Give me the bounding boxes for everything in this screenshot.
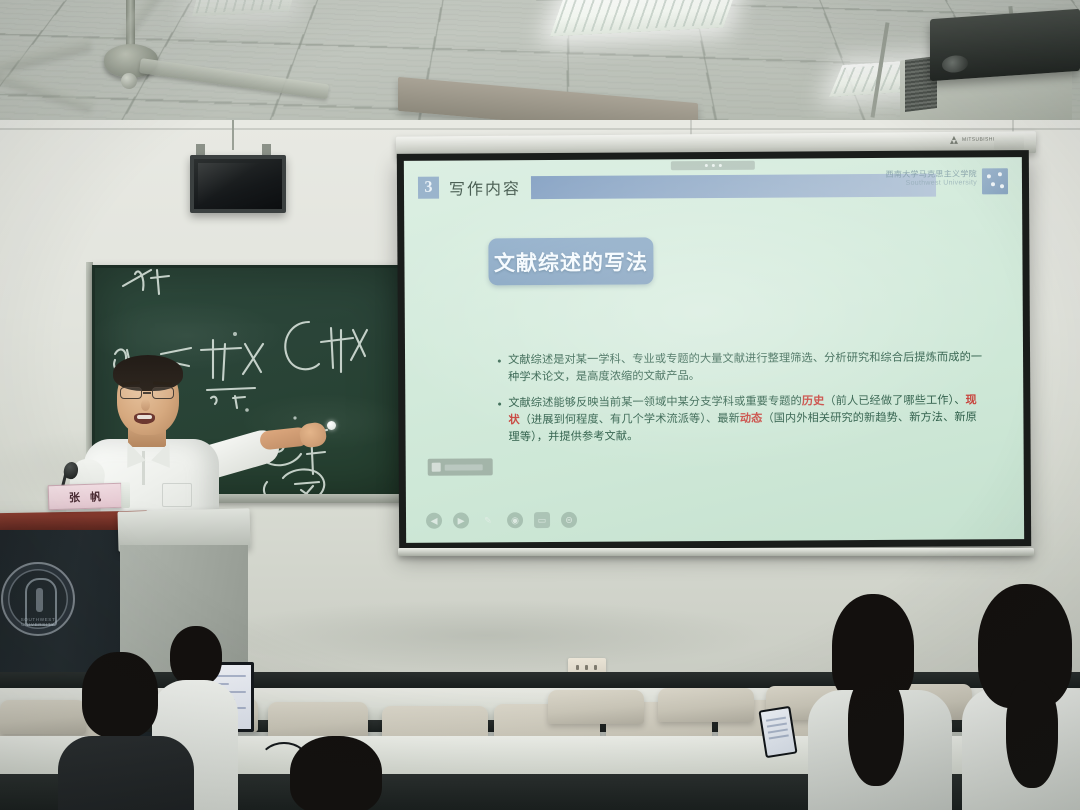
water-bottle — [121, 482, 130, 508]
bullet-marker: • — [497, 395, 508, 446]
wall-mounted-monitor — [190, 155, 286, 213]
laser-pointer-icon — [327, 421, 336, 430]
slide-status-chip[interactable] — [428, 458, 493, 475]
slide-header-bar — [531, 173, 936, 198]
nameplate-given-name: 帆 — [90, 488, 102, 504]
bullet-text: 文献综述是对某一学科、专业或专题的大量文献进行整理筛选、分析研究和综合后提炼而成… — [508, 349, 985, 386]
chip-icon — [432, 463, 441, 472]
university-brand: 西南大学马克思主义学院 Southwest University — [886, 168, 1008, 195]
ceiling-projector — [930, 9, 1080, 81]
slide-section-title: 写作内容 — [449, 175, 521, 199]
bullet-item: • 文献综述是对某一学科、专业或专题的大量文献进行整理筛选、分析研究和综合后提炼… — [497, 349, 985, 386]
highlight-text: 动态 — [740, 413, 763, 425]
prev-slide-icon[interactable]: ◀ — [426, 513, 442, 529]
student — [264, 736, 404, 810]
university-emblem-icon: SOUTHWEST UNIVERSITY — [1, 562, 75, 636]
presentation-toolbar[interactable]: ◀ ▶ ✎ ◉ ▭ ⊜ — [426, 512, 577, 529]
next-slide-icon[interactable]: ▶ — [453, 512, 469, 528]
university-logo-icon — [982, 168, 1008, 194]
shirt-pocket — [162, 483, 192, 507]
brand-name-cn: 西南大学马克思主义学院 — [886, 169, 977, 179]
projected-slide[interactable]: 3 写作内容 西南大学马克思主义学院 Southwest University … — [404, 157, 1024, 543]
seat-back — [658, 688, 754, 722]
projection-screen: 3 写作内容 西南大学马克思主义学院 Southwest University … — [397, 150, 1031, 550]
slide-section-number: 3 — [418, 177, 439, 199]
nose — [141, 399, 150, 411]
webcam-overlay-strip — [671, 161, 755, 171]
pointer-icon[interactable]: ◉ — [507, 512, 523, 528]
tv-cable — [232, 120, 234, 150]
emblem-text: SOUTHWEST UNIVERSITY — [3, 617, 73, 627]
student — [64, 652, 184, 810]
glasses-icon — [119, 387, 177, 400]
nameplate-surname: 张 — [69, 489, 81, 505]
housing-end-cap — [994, 135, 1024, 149]
screen-icon[interactable]: ▭ — [534, 512, 550, 528]
bullet-text: 文献综述能够反映当前某一领域中某分支学科或重要专题的历史（前人已经做了哪些工作）… — [508, 392, 985, 446]
slide-title-box: 文献综述的写法 — [488, 237, 653, 285]
brand-name-en: Southwest University — [886, 179, 977, 188]
projection-screen-bottom-bar — [398, 548, 1034, 556]
bullet-item: • 文献综述能够反映当前某一领域中某分支学科或重要专题的历史（前人已经做了哪些工… — [497, 392, 985, 446]
student — [968, 584, 1080, 810]
slide-bullet-list: • 文献综述是对某一学科、专业或专题的大量文献进行整理筛选、分析研究和综合后提炼… — [497, 349, 986, 455]
lecturer-nameplate: 张 帆 — [48, 483, 123, 511]
student — [820, 594, 932, 810]
bullet-marker: • — [497, 352, 508, 386]
housing-brand-text: MITSUBISHI — [962, 137, 995, 143]
classroom-scene: MITSUBISHI 3 写作内容 西南大学马克思主义学院 Southwest … — [0, 0, 1080, 810]
menu-icon[interactable]: ⊜ — [561, 512, 577, 528]
highlight-text: 历史 — [802, 395, 825, 407]
seat-back — [548, 690, 644, 724]
projector-lens-icon — [942, 55, 968, 74]
pen-icon[interactable]: ✎ — [480, 512, 496, 528]
mouth — [134, 413, 155, 424]
slide-title-text: 文献综述的写法 — [494, 246, 648, 277]
mitsubishi-logo-icon: MITSUBISHI — [950, 136, 995, 144]
ceiling-fan-nub — [121, 73, 137, 89]
